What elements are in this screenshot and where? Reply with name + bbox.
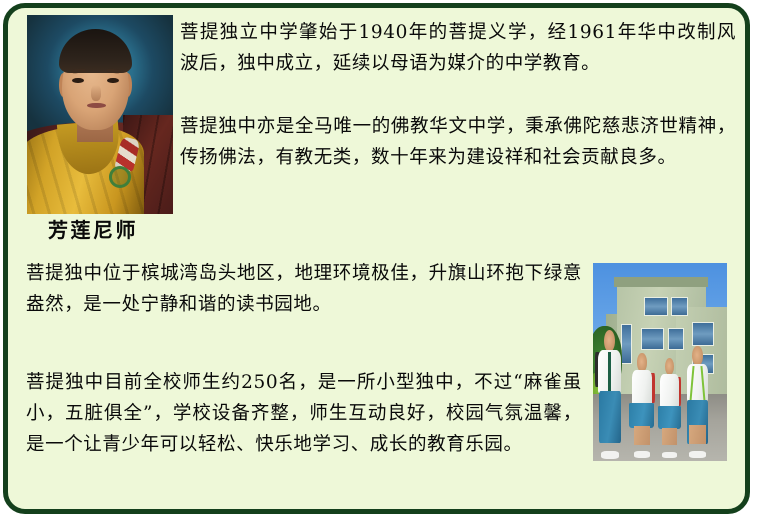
student-shoes [601,451,619,459]
paragraph-history: 菩提独立中学肇始于1940年的菩提义学，经1961年华中改制风波后，独中成立，延… [180,17,736,79]
portrait-mouth [87,103,106,109]
student-figure [687,364,708,453]
school-window [621,324,632,364]
paragraph-location: 菩提独中位于槟城湾岛头地区，地理环境极佳，升旗山环抱下绿意盎然，是一处宁静和谐的… [26,258,582,320]
student-head [637,353,647,371]
portrait-jade-ring [109,166,131,188]
paragraph-student-body: 菩提独中目前全校师生约250名，是一所小型独中，不过“麻雀虽小，五脏俱全”，学校… [26,367,582,460]
info-panel: 菩提独立中学肇始于1940年的菩提义学，经1961年华中改制风波后，独中成立，延… [3,3,750,514]
student-shirt [632,370,652,405]
portrait-eye-right [107,78,119,83]
student-legs [634,426,649,444]
student-trousers [599,391,621,442]
student-figure [598,350,621,453]
student-legs [662,428,676,445]
student-legs [689,425,705,445]
student-shirt [660,374,679,407]
student-shoes [662,452,677,458]
student-figure [632,370,652,453]
school-window [641,328,664,350]
student-tie [608,352,611,391]
portrait-nose [91,85,101,101]
student-shoes [634,451,650,458]
school-window [668,328,684,350]
student-head [665,358,674,375]
school-window [692,322,713,346]
school-window [644,297,668,317]
student-shoes [689,451,706,458]
portrait-caption: 芳莲尼师 [48,217,138,243]
school-roof [614,277,708,287]
student-head [692,346,702,366]
student-figure [660,374,679,453]
paragraph-buddhist-mission: 菩提独中亦是全马唯一的佛教华文中学，秉承佛陀慈悲济世精神，传扬佛法，有教无类，数… [180,111,736,173]
school-students-image [593,263,727,461]
school-window [671,297,688,317]
portrait-eye-left [72,78,84,83]
student-skirt [629,403,654,428]
student-skirt [658,406,681,430]
nun-portrait-image [27,15,173,214]
